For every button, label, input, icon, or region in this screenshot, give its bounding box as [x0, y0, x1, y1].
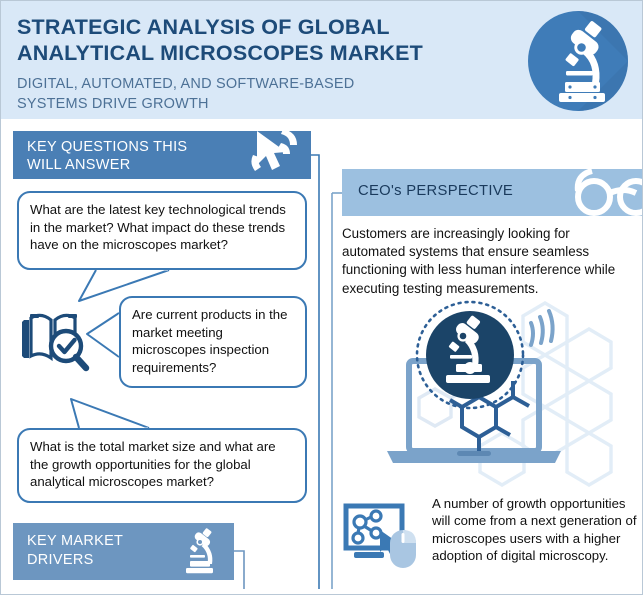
key-market-drivers-header-bar: KEY MARKET DRIVERS [13, 523, 234, 580]
open-book-with-magnifier-check-icon [19, 308, 95, 374]
molecule-icon [353, 511, 381, 543]
question-bubble-3-text: What is the total market size and what a… [30, 438, 294, 491]
key-questions-header-bar: KEY QUESTIONS THIS WILL ANSWER [13, 131, 311, 179]
question-bubble-1-text: What are the latest key technological tr… [30, 201, 294, 254]
growth-opportunity-note: A number of growth opportunities will co… [342, 495, 638, 587]
question-bubble-2-text: Are current products in the market meeti… [132, 306, 294, 376]
ceo-perspective-label: CEO's PERSPECTIVE [358, 182, 513, 201]
ceo-perspective-header-bar: CEO's PERSPECTIVE [342, 169, 643, 216]
growth-opportunity-text: A number of growth opportunities will co… [432, 495, 638, 565]
ceo-perspective-quote: Customers are increasingly looking for a… [342, 225, 634, 298]
wifi-signal-icon [531, 311, 553, 345]
laptop-with-microscope-badge-illustration [339, 297, 643, 493]
eyeglasses-icon [572, 169, 643, 216]
key-questions-label: KEY QUESTIONS THIS WILL ANSWER [27, 138, 187, 174]
infographic-page: STRATEGIC ANALYSIS OF GLOBAL ANALYTICAL … [0, 0, 643, 595]
cursor-arrow-icon [247, 125, 303, 181]
question-bubble-1: What are the latest key technological tr… [17, 191, 307, 270]
key-questions-label-line-1: KEY QUESTIONS THIS [27, 138, 187, 156]
key-market-drivers-label-line-2: DRIVERS [27, 551, 123, 570]
monitor-molecule-mouse-icon [342, 500, 424, 568]
computer-mouse-icon [390, 530, 416, 568]
key-market-drivers-label: KEY MARKET DRIVERS [27, 532, 123, 570]
question-bubble-3: What is the total market size and what a… [17, 428, 307, 503]
key-questions-label-line-2: WILL ANSWER [27, 156, 187, 174]
microscope-icon [177, 527, 225, 577]
question-bubble-2: Are current products in the market meeti… [119, 296, 307, 388]
key-market-drivers-label-line-1: KEY MARKET [27, 532, 123, 551]
